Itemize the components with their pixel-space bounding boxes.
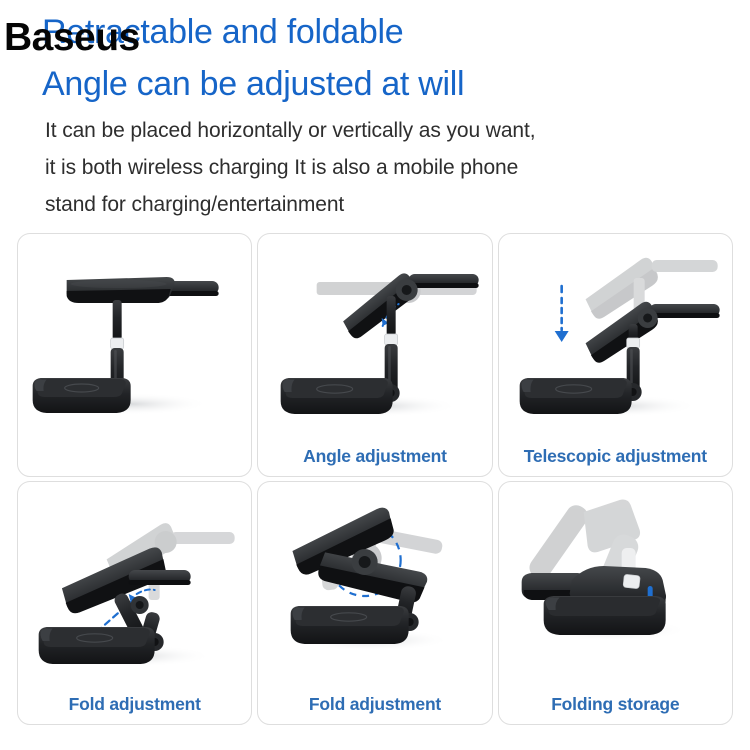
product-illustration-telescopic-adjustment [499,234,732,439]
rear-wing [649,304,719,318]
body-line-1: It can be placed horizontally or vertica… [45,112,715,149]
feature-panel-fold-adjustment-1[interactable]: Fold adjustment [17,481,252,725]
rear-wing [409,274,479,288]
headline-line-2: Angle can be adjusted at will [42,64,464,104]
product-illustration-fold-adjustment-1 [18,482,251,687]
feature-panel-angle-adjustment[interactable]: Angle adjustment [257,233,492,477]
panel-caption: Folding storage [499,694,732,715]
top-charging-plate [67,277,175,303]
product-illustration-fold-adjustment-2 [258,482,491,687]
body-copy: It can be placed horizontally or vertica… [45,112,715,223]
wireless-charging-base [281,378,393,414]
wireless-charging-base [519,378,631,414]
hinge-joint-center [352,549,378,575]
rear-wing [129,570,191,585]
body-line-2: it is both wireless charging It is also … [45,149,715,186]
feature-panel-fold-adjustment-2[interactable]: Fold adjustment [257,481,492,725]
wireless-charging-base [543,596,665,635]
wireless-charging-base [291,606,409,644]
panel-caption: Fold adjustment [18,694,251,715]
wireless-charging-base [33,378,131,413]
feature-panel-upright-stand[interactable] [17,233,252,477]
feature-panel-folding-storage[interactable]: Folding storage [498,481,733,725]
telescopic-down-arrow-indicator [554,286,568,342]
wireless-charging-base [39,627,155,664]
feature-panel-telescopic-adjustment[interactable]: Telescopic adjustment [498,233,733,477]
product-illustration-angle-adjustment [258,234,491,439]
product-illustration-upright-stand [18,234,251,439]
feature-panel-grid: Angle adjustment [17,233,733,725]
panel-caption: Telescopic adjustment [499,446,732,467]
panel-caption: Angle adjustment [258,446,491,467]
panel-caption: Fold adjustment [258,694,491,715]
product-illustration-folding-storage [499,482,732,687]
body-line-3: stand for charging/entertainment [45,186,715,223]
baseus-watermark: Baseus [4,18,140,57]
hinge-joint-top [396,279,418,301]
hinge-joint-top [637,308,657,328]
